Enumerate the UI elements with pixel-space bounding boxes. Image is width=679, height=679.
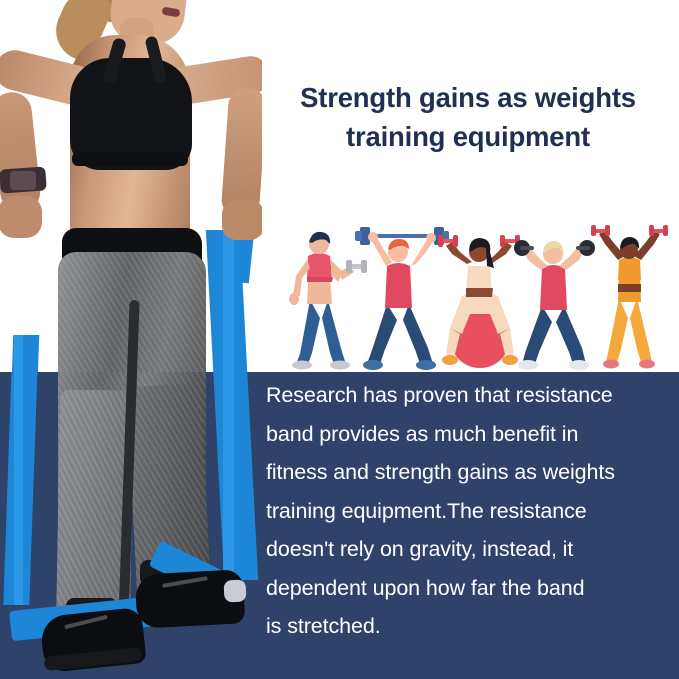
shoe-left <box>518 360 538 370</box>
shoe-right <box>330 361 350 370</box>
legs <box>296 300 346 364</box>
smartwatch-face <box>10 171 36 190</box>
description-line-7: is stretched. <box>266 607 676 646</box>
waist-band <box>618 284 641 292</box>
shoe-left <box>292 361 312 370</box>
description-line-6: dependent upon how far the band <box>266 569 676 608</box>
shoe-right <box>639 360 655 369</box>
description-line-3: fitness and strength gains as weights <box>266 453 676 492</box>
hand-left <box>368 232 378 242</box>
product-infographic: Strength gains as weights training equip… <box>0 0 679 679</box>
resistance-band-left-lower-highlight <box>14 372 23 605</box>
shoe-left <box>603 360 619 369</box>
waist-band <box>466 288 493 297</box>
sports-top <box>307 253 332 281</box>
description-text: Research has proven that resistance band… <box>266 376 676 646</box>
shoe-left <box>442 355 458 365</box>
tank-top <box>385 263 412 308</box>
top-band <box>307 277 333 282</box>
left-hand <box>0 196 42 238</box>
right-hand <box>222 200 262 240</box>
resistance-band-right-lower-highlight <box>223 372 234 577</box>
tank-top <box>540 265 567 310</box>
headline-line-1: Strength gains as weights <box>262 78 674 117</box>
description-line-1: Research has proven that resistance <box>266 376 676 415</box>
headline-line-2: training equipment <box>262 117 674 156</box>
shoe-left <box>363 360 383 370</box>
right-shoe-toe-cap-lower <box>223 579 246 602</box>
hand-left <box>289 293 299 305</box>
description-line-5: doesn't rely on gravity, instead, it <box>266 530 676 569</box>
sports-bra-band <box>72 152 188 166</box>
legs <box>367 304 433 364</box>
legs <box>522 306 586 364</box>
legs <box>606 298 652 362</box>
arm-left <box>446 242 472 264</box>
exercise-illustration-row <box>276 222 679 372</box>
photo-lower-overlay <box>0 372 262 679</box>
description-line-2: band provides as much benefit in <box>266 415 676 454</box>
sports-top <box>618 257 641 283</box>
description-line-4: training equipment.The resistance <box>266 492 676 531</box>
figure-woman-arms-raised-dumbbells <box>583 222 679 372</box>
headline: Strength gains as weights training equip… <box>262 78 674 156</box>
